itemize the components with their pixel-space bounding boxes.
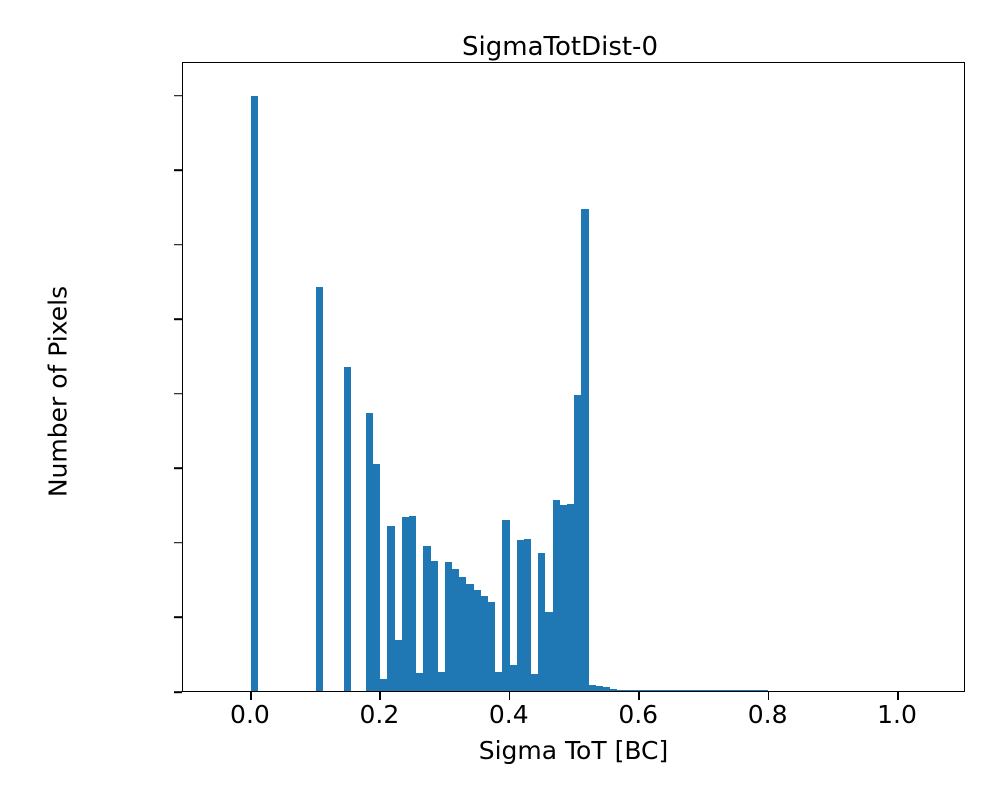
x-tick-mark xyxy=(379,692,381,700)
x-tick-mark xyxy=(509,692,511,700)
histogram-bar xyxy=(387,526,394,691)
y-tick-mark xyxy=(174,318,182,320)
histogram-bar xyxy=(445,562,452,691)
x-tick-label: 1.0 xyxy=(827,700,967,729)
histogram-bar xyxy=(502,520,509,691)
x-tick-label: 0.6 xyxy=(568,700,708,729)
histogram-bar xyxy=(560,505,567,691)
histogram-bar xyxy=(703,690,710,691)
histogram-bar xyxy=(581,209,588,691)
histogram-bar xyxy=(402,517,409,691)
histogram-bar xyxy=(660,690,667,691)
y-tick-mark xyxy=(174,691,182,693)
histogram-bar xyxy=(711,690,718,691)
x-tick-label: 0.8 xyxy=(698,700,838,729)
histogram-bar xyxy=(474,590,481,691)
histogram-bar xyxy=(409,516,416,691)
y-tick-mark xyxy=(174,169,182,171)
histogram-bar xyxy=(696,690,703,691)
histogram-bar xyxy=(416,673,423,691)
histogram-bar xyxy=(488,602,495,691)
histogram-bar xyxy=(725,690,732,691)
histogram-bar xyxy=(718,690,725,691)
y-tick-mark xyxy=(174,468,182,470)
histogram-bars xyxy=(183,63,964,691)
histogram-bar xyxy=(653,690,660,691)
histogram-bar xyxy=(553,500,560,691)
histogram-bar xyxy=(517,540,524,691)
y-tick-mark xyxy=(174,617,182,619)
histogram-bar xyxy=(316,287,323,691)
histogram-bar xyxy=(639,690,646,691)
histogram-bar xyxy=(668,690,675,691)
histogram-bar xyxy=(632,690,639,691)
histogram-bar xyxy=(395,640,402,691)
histogram-bar xyxy=(567,504,574,691)
histogram-bar xyxy=(251,96,258,691)
histogram-bar xyxy=(510,665,517,691)
histogram-bar xyxy=(431,561,438,691)
histogram-bar xyxy=(682,690,689,691)
histogram-bar xyxy=(646,690,653,691)
y-axis-label: Number of Pixels xyxy=(44,112,73,672)
y-tick-mark xyxy=(174,244,182,246)
x-tick-label: 0.4 xyxy=(439,700,579,729)
y-tick-mark xyxy=(174,393,182,395)
x-tick-label: 0.0 xyxy=(180,700,320,729)
y-tick-mark xyxy=(174,95,182,97)
x-tick-mark xyxy=(897,692,899,700)
histogram-bar xyxy=(589,685,596,691)
histogram-bar xyxy=(423,546,430,691)
histogram-bar xyxy=(689,690,696,691)
y-tick-mark xyxy=(174,542,182,544)
x-tick-label: 0.2 xyxy=(309,700,449,729)
histogram-bar xyxy=(538,553,545,691)
histogram-bar xyxy=(761,690,768,691)
histogram-bar xyxy=(624,690,631,691)
chart-title: SigmaTotDist-0 xyxy=(0,32,1000,62)
histogram-bar xyxy=(754,690,761,691)
histogram-bar xyxy=(675,690,682,691)
x-tick-mark xyxy=(768,692,770,700)
histogram-bar xyxy=(344,367,351,691)
histogram-bar xyxy=(380,679,387,691)
histogram-bar xyxy=(739,690,746,691)
histogram-bar xyxy=(596,686,603,691)
histogram-bar xyxy=(524,539,531,691)
histogram-bar xyxy=(610,689,617,691)
histogram-bar xyxy=(531,674,538,691)
x-axis-label: Sigma ToT [BC] xyxy=(182,736,965,765)
histogram-bar xyxy=(466,584,473,691)
x-tick-mark xyxy=(638,692,640,700)
histogram-bar xyxy=(481,596,488,691)
histogram-bar xyxy=(545,612,552,691)
x-tick-mark xyxy=(250,692,252,700)
histogram-bar xyxy=(459,577,466,691)
histogram-bar xyxy=(574,395,581,691)
histogram-bar xyxy=(495,672,502,691)
chart-title-text: SigmaTotDist-0 xyxy=(462,32,658,62)
histogram-bar xyxy=(617,690,624,691)
histogram-bar xyxy=(366,413,373,691)
histogram-bar xyxy=(373,464,380,691)
histogram-bar xyxy=(452,569,459,691)
histogram-bar xyxy=(438,672,445,691)
histogram-bar xyxy=(732,690,739,691)
histogram-bar xyxy=(603,687,610,691)
figure-canvas: SigmaTotDist-0 0200040006000800010000120… xyxy=(0,0,1000,800)
histogram-bar xyxy=(747,690,754,691)
plot-area xyxy=(182,62,965,692)
